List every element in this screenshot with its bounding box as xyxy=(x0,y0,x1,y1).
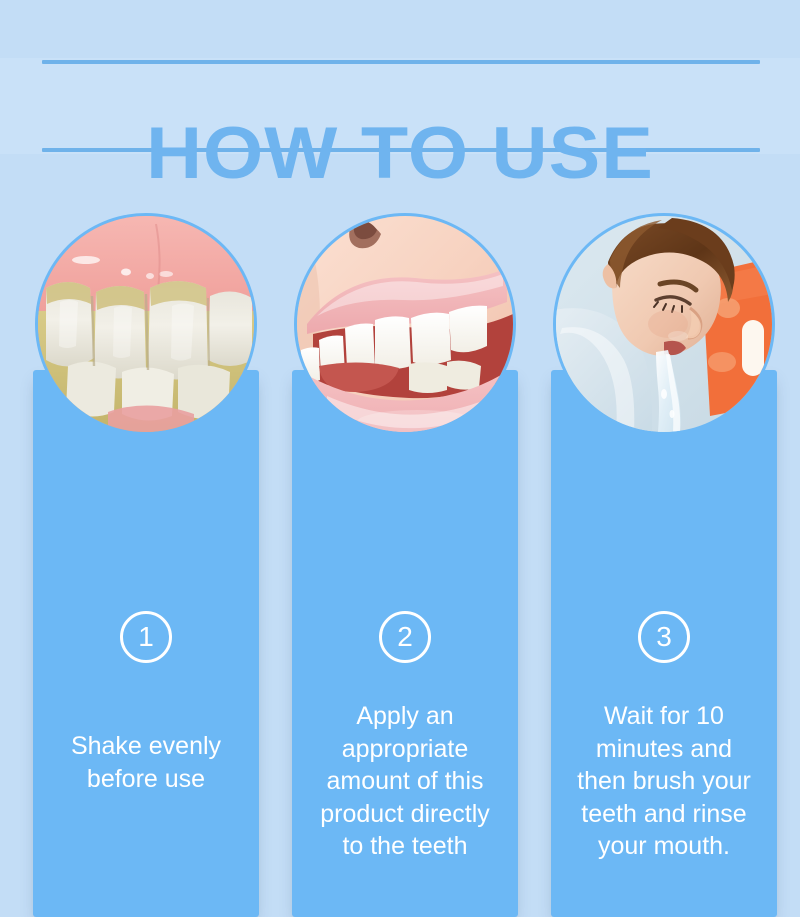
caption-line: amount of this xyxy=(298,765,512,798)
caption-line: appropriate xyxy=(298,733,512,766)
step-caption-2: Apply an appropriate amount of this prod… xyxy=(292,700,518,863)
teeth-with-plaque-photo xyxy=(38,216,254,432)
caption-line: product directly xyxy=(298,798,512,831)
caption-line: minutes and xyxy=(557,733,771,766)
step-badge-2: 2 xyxy=(379,611,431,663)
caption-line: before use xyxy=(39,763,253,796)
step-caption-3: Wait for 10 minutes and then brush your … xyxy=(551,700,777,863)
step-badge-1: 1 xyxy=(120,611,172,663)
caption-line: Apply an xyxy=(298,700,512,733)
caption-line: your mouth. xyxy=(557,830,771,863)
caption-line: to the teeth xyxy=(298,830,512,863)
page-title: HOW TO USE xyxy=(0,111,800,197)
steps-container: 1 Shake evenly before use xyxy=(0,200,800,740)
caption-line: Shake evenly xyxy=(39,730,253,763)
step-caption-1: Shake evenly before use xyxy=(33,730,259,795)
caption-line: teeth and rinse xyxy=(557,798,771,831)
caption-line: Wait for 10 xyxy=(557,700,771,733)
step-badge-3: 3 xyxy=(638,611,690,663)
smiling-mouth-photo xyxy=(297,216,513,432)
woman-rinsing-mouth-photo xyxy=(556,216,772,432)
caption-line: then brush your xyxy=(557,765,771,798)
title-rule-top xyxy=(42,60,760,64)
